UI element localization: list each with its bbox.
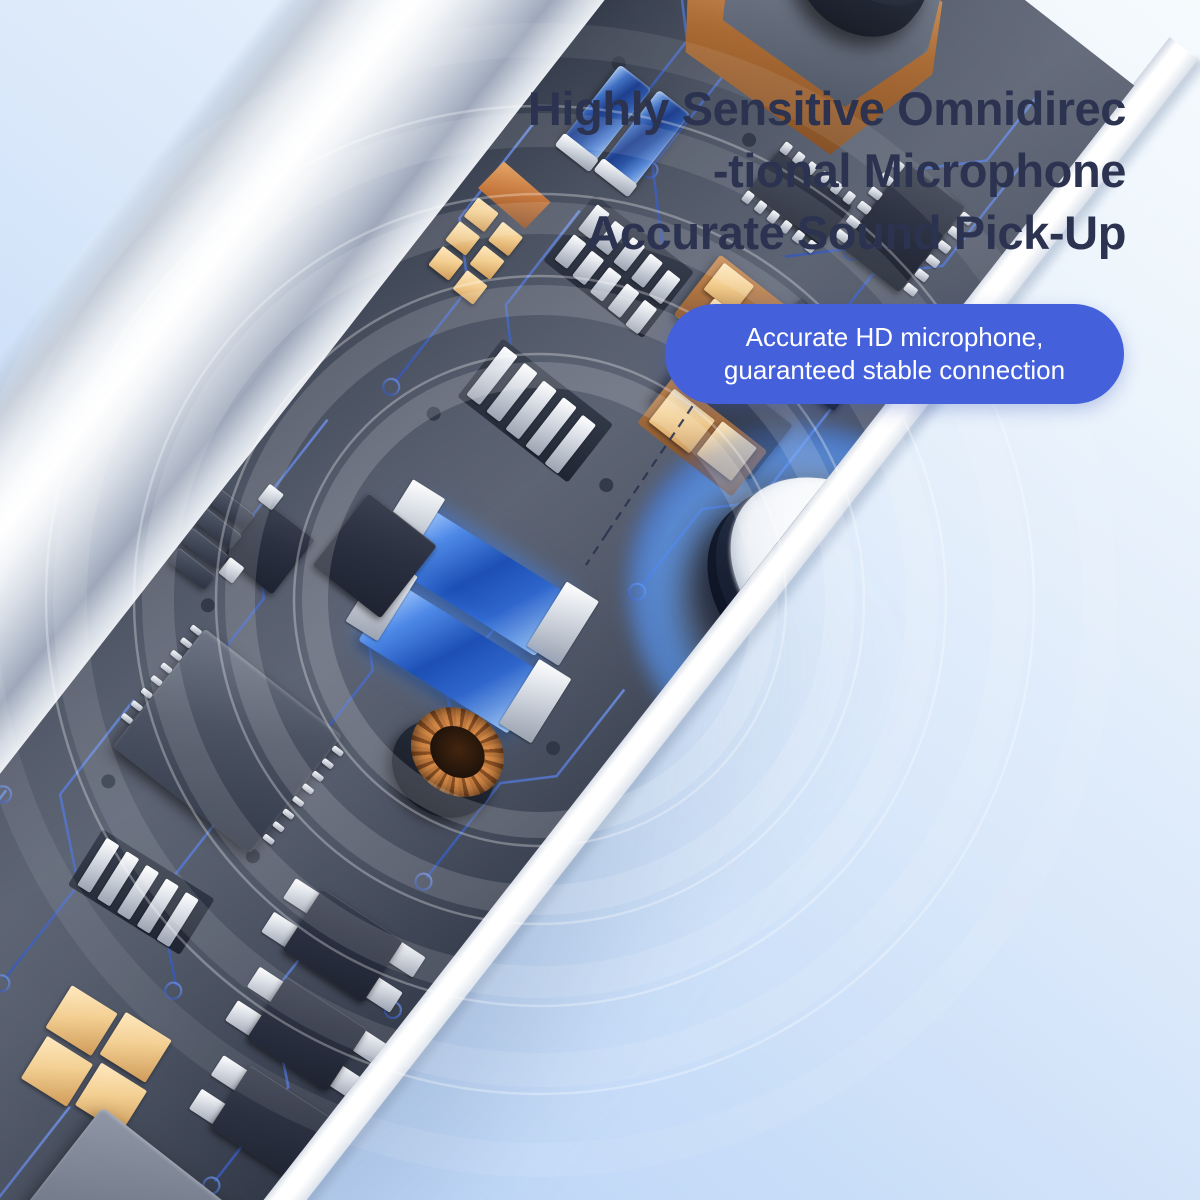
microphone-port-hole: [836, 632, 863, 658]
callout-badge-line-2: guaranteed stable connection: [724, 354, 1065, 387]
headline-line-3: Accurate Sound Pick-Up: [528, 202, 1126, 264]
microphone-port-hole: [879, 567, 906, 593]
callout-badge-line-1: Accurate HD microphone,: [746, 321, 1044, 354]
headline-line-2: -tional Microphone: [528, 140, 1126, 202]
product-marketing-image: Highly Sensitive Omnidirec -tional Micro…: [0, 0, 1200, 1200]
microphone-port-hole: [875, 614, 902, 640]
headline-line-1: Highly Sensitive Omnidirec: [528, 78, 1126, 140]
page-title: Highly Sensitive Omnidirec -tional Micro…: [528, 78, 1126, 264]
microphone-port-hole: [796, 588, 823, 614]
callout-badge: Accurate HD microphone, guaranteed stabl…: [665, 304, 1124, 404]
